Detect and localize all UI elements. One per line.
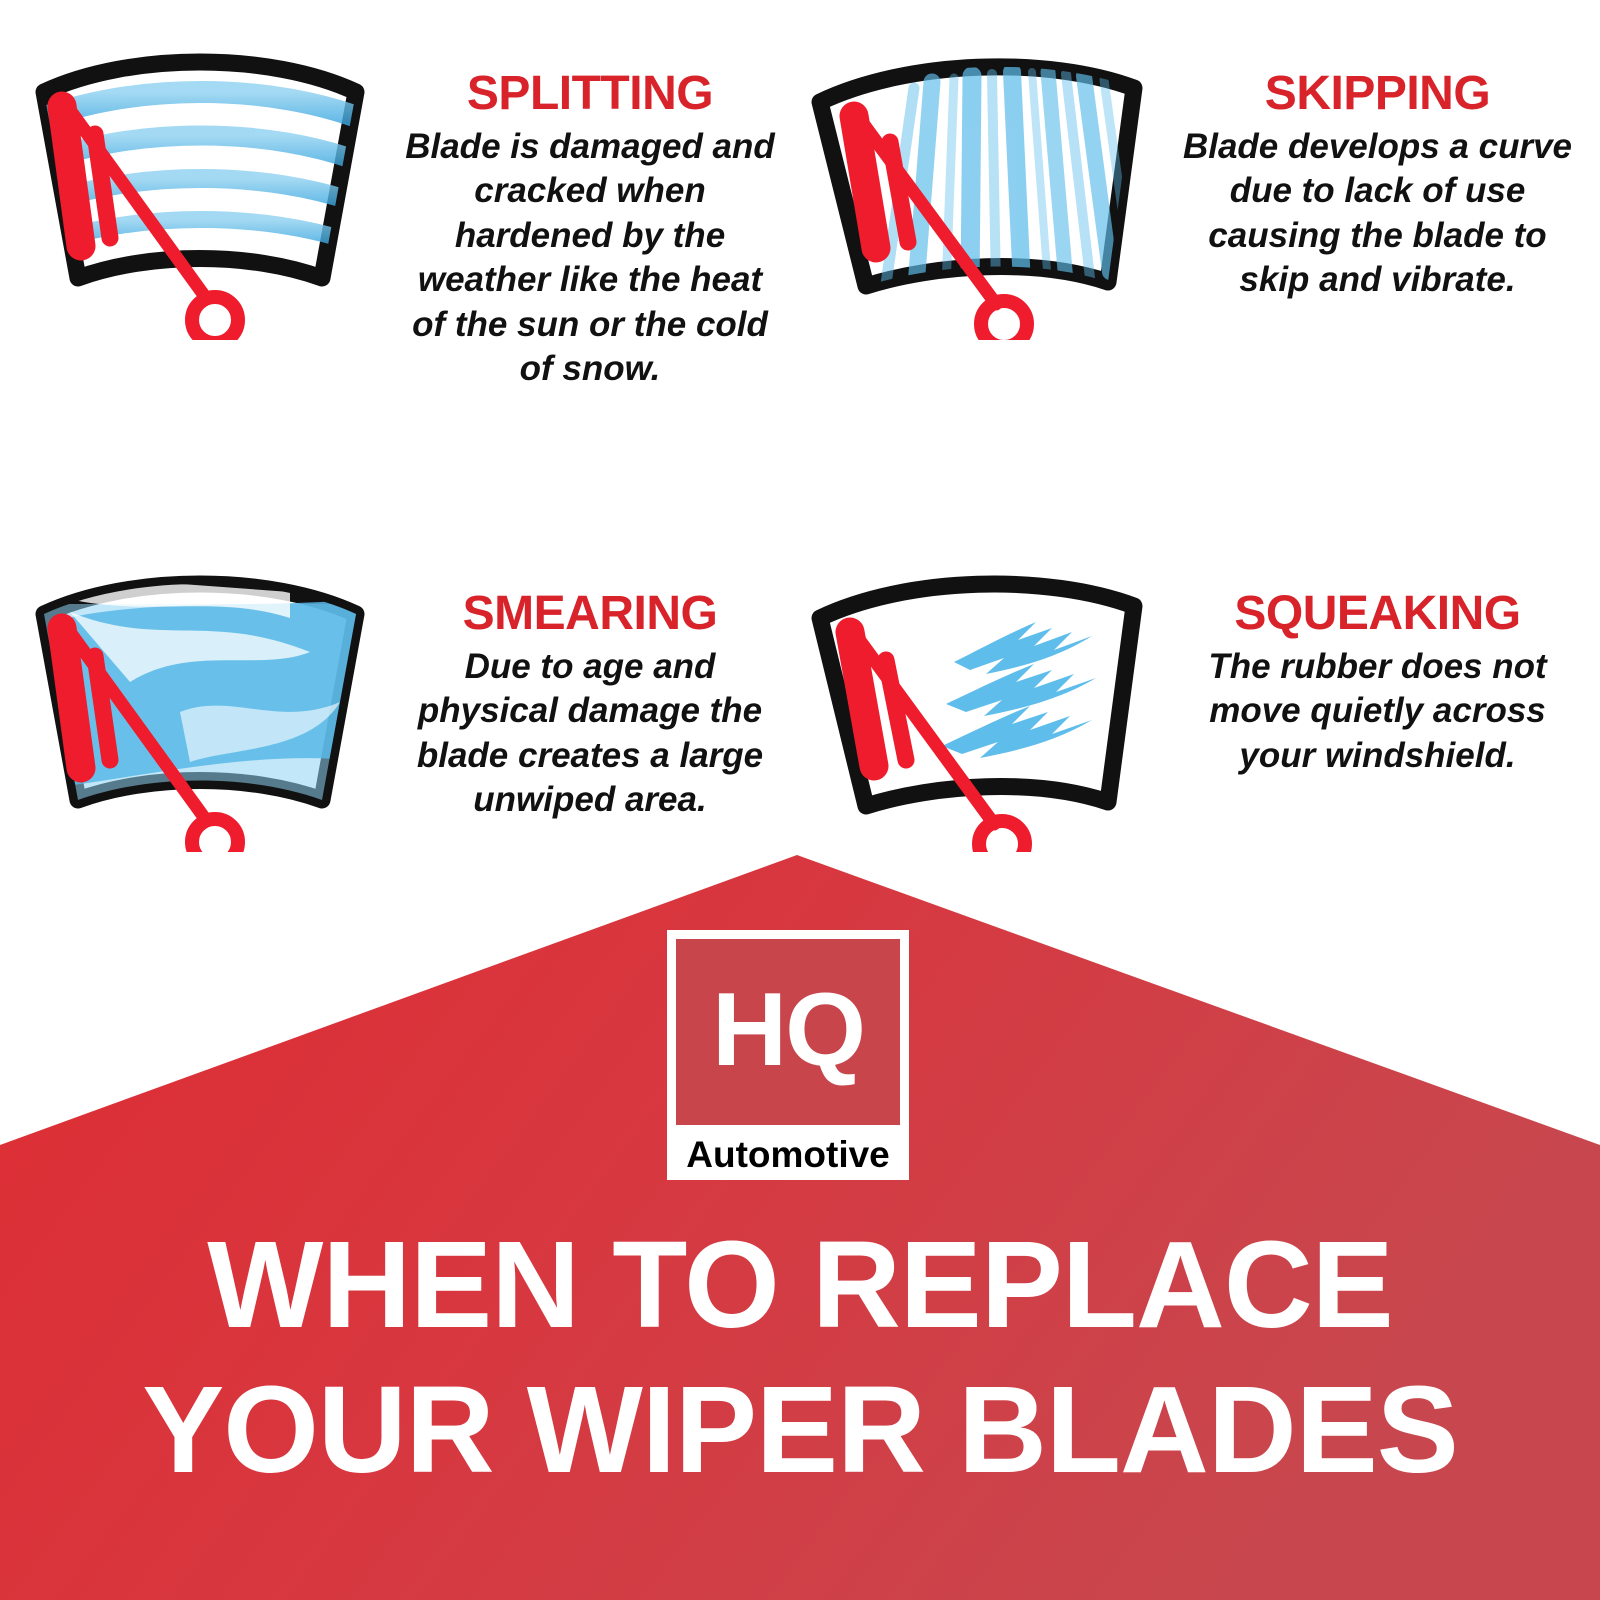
symptom-title: SPLITTING <box>390 70 790 119</box>
logo-subtitle: Automotive <box>676 1125 900 1173</box>
symptom-title: SMEARING <box>390 590 790 639</box>
symptom-panel-splitting: SPLITTING Blade is damaged and cracked w… <box>10 30 790 392</box>
symptom-text-squeaking: SQUEAKING The rubber does not move quiet… <box>1165 552 1590 778</box>
symptom-title: SKIPPING <box>1165 70 1590 119</box>
symptom-text-smearing: SMEARING Due to age and physical damage … <box>390 552 790 823</box>
windshield-wiper-zigzag-icon <box>790 552 1165 862</box>
windshield-wiper-streaks-icon <box>790 30 1165 340</box>
symptom-panel-grid: SPLITTING Blade is damaged and cracked w… <box>0 0 1600 870</box>
symptom-description: The rubber does not move quietly across … <box>1165 645 1590 778</box>
symptom-panel-squeaking: SQUEAKING The rubber does not move quiet… <box>790 552 1590 862</box>
symptom-text-splitting: SPLITTING Blade is damaged and cracked w… <box>390 30 790 392</box>
symptom-description: Blade is damaged and cracked when harden… <box>390 125 790 392</box>
windshield-wiper-arcs-icon <box>10 30 390 340</box>
symptom-description: Blade develops a curve due to lack of us… <box>1165 125 1590 303</box>
symptom-description: Due to age and physical damage the blade… <box>390 645 790 823</box>
logo-mark-text: HQ <box>712 978 864 1082</box>
symptom-title: SQUEAKING <box>1165 590 1590 639</box>
logo-mark-box: HQ <box>676 939 900 1125</box>
symptom-panel-smearing: SMEARING Due to age and physical damage … <box>10 552 790 862</box>
brand-logo: HQ Automotive <box>667 930 909 1180</box>
page-title: WHEN TO REPLACE YOUR WIPER BLADES <box>0 1213 1600 1503</box>
headline-line-2: YOUR WIPER BLADES <box>0 1358 1600 1503</box>
symptom-panel-skipping: SKIPPING Blade develops a curve due to l… <box>790 30 1590 340</box>
headline-line-1: WHEN TO REPLACE <box>0 1213 1600 1358</box>
windshield-wiper-smear-icon <box>10 552 390 862</box>
symptom-text-skipping: SKIPPING Blade develops a curve due to l… <box>1165 30 1590 303</box>
